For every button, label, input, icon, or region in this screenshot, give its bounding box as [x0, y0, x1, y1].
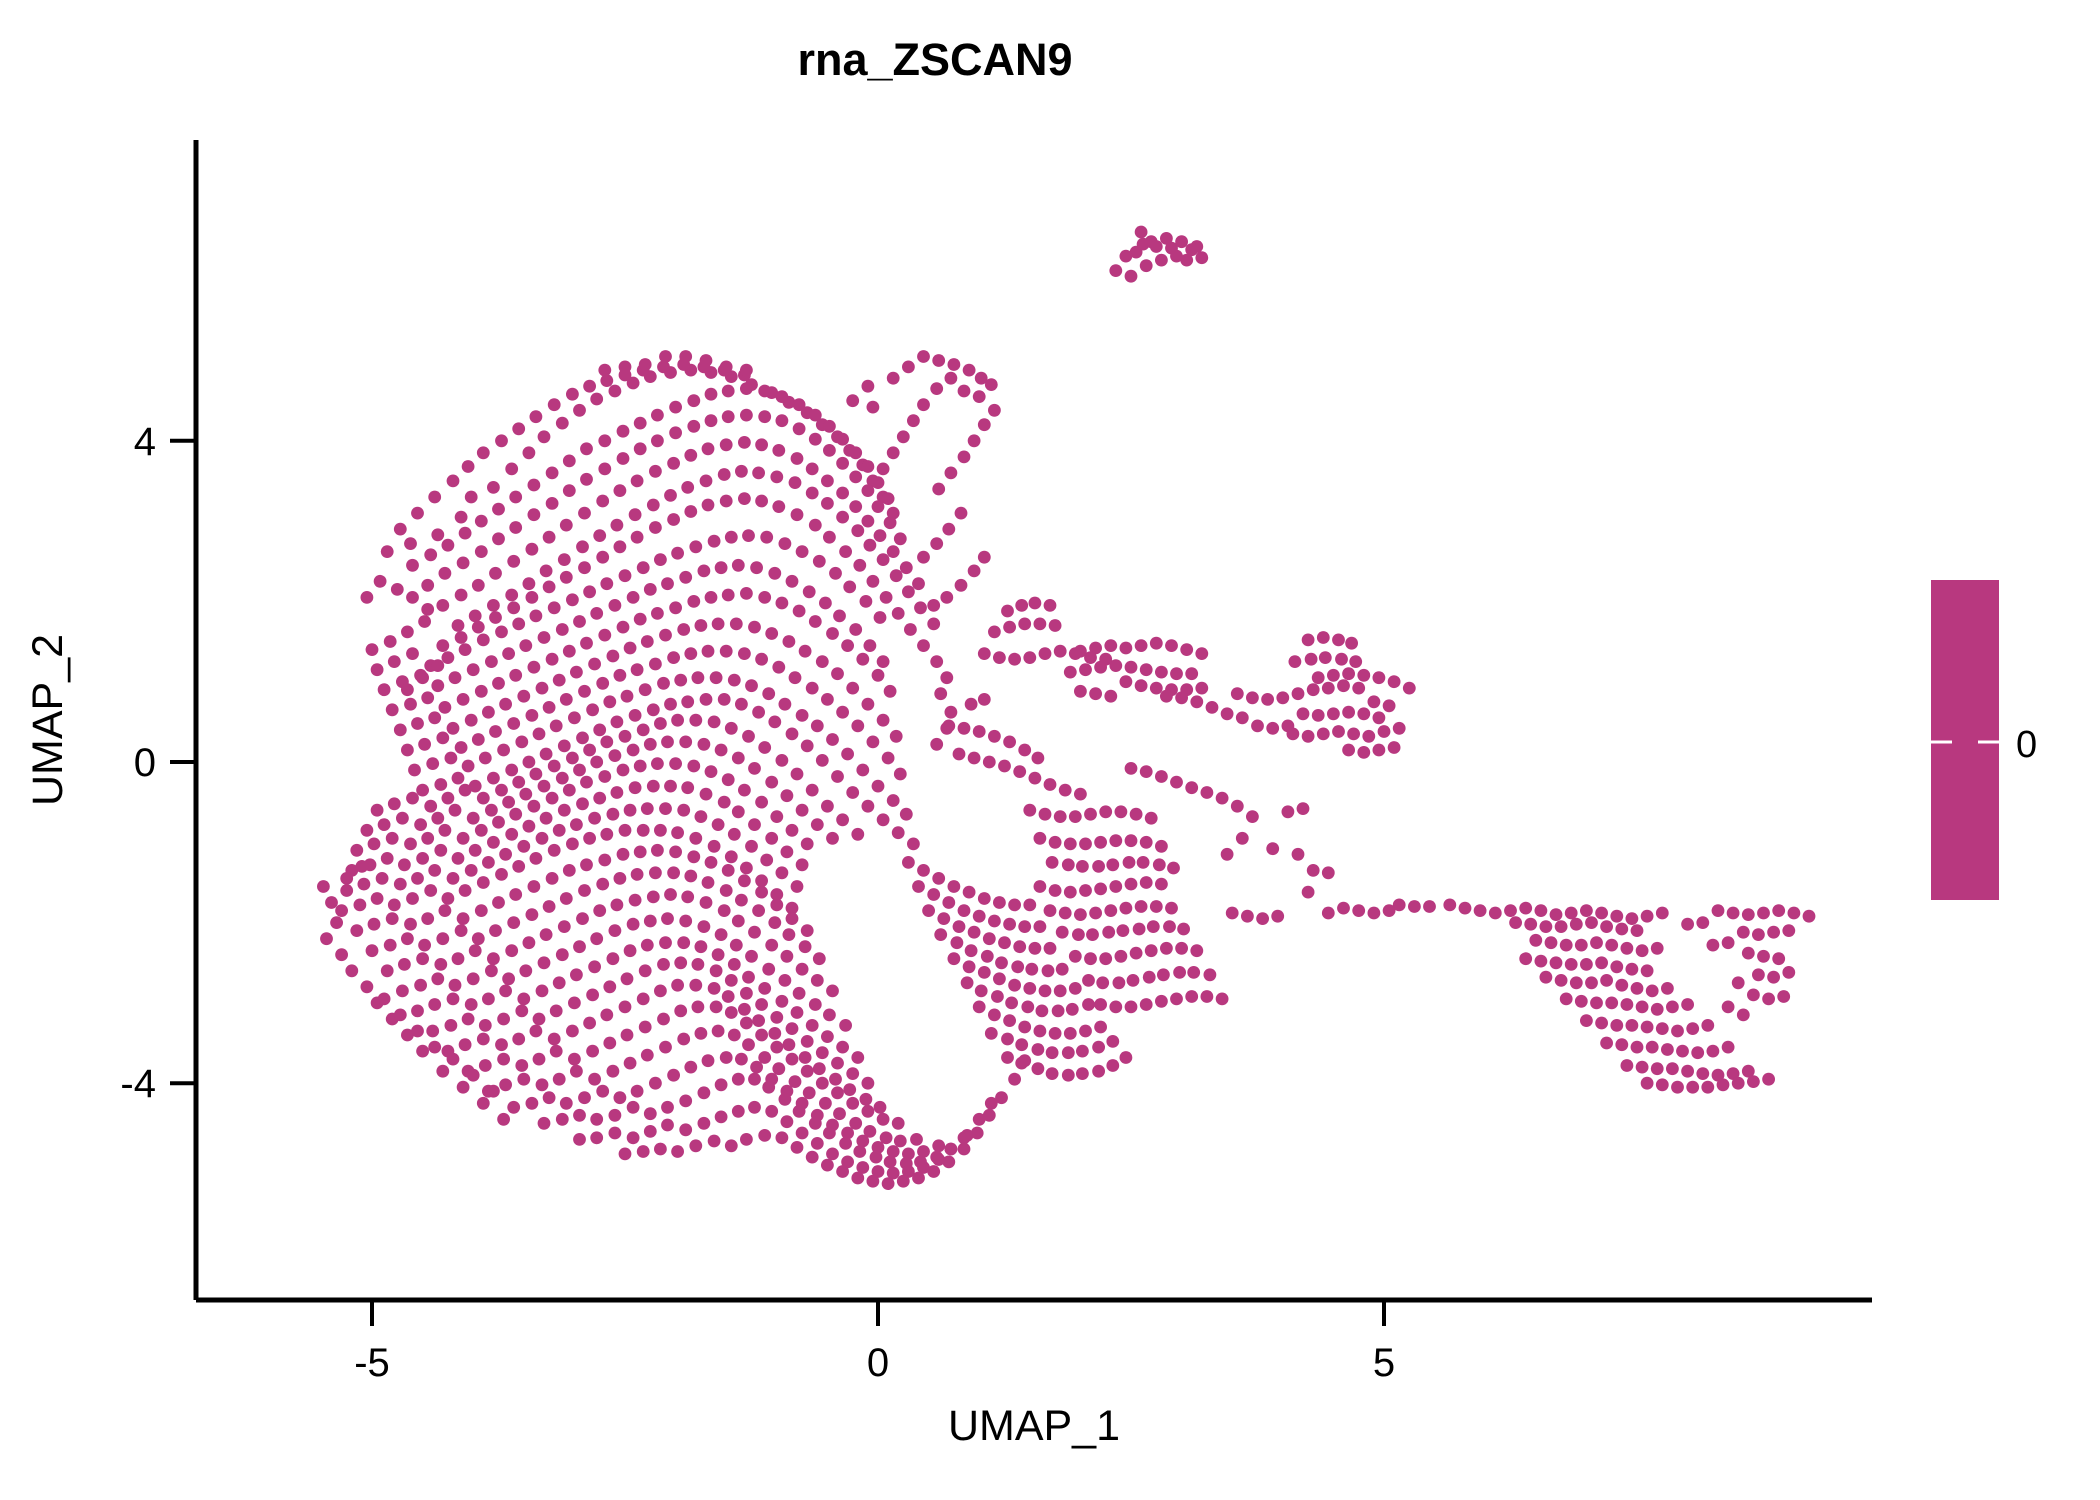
- data-point: [687, 394, 700, 407]
- data-point: [1175, 942, 1188, 955]
- data-point: [1059, 784, 1072, 797]
- legend-colorbar[interactable]: 0: [1931, 580, 2037, 900]
- data-point: [671, 547, 684, 560]
- data-point: [1646, 1041, 1659, 1054]
- data-point: [715, 1078, 728, 1091]
- data-point: [1153, 858, 1166, 871]
- data-point: [631, 475, 644, 488]
- data-point: [1312, 671, 1325, 684]
- data-point: [1621, 1059, 1634, 1072]
- data-point: [821, 497, 834, 510]
- data-point: [1767, 926, 1780, 939]
- data-point: [752, 467, 765, 480]
- data-point: [418, 738, 431, 751]
- data-point: [515, 1005, 528, 1018]
- data-point: [651, 434, 664, 447]
- data-point: [1056, 963, 1069, 976]
- data-point: [1231, 800, 1244, 813]
- data-point: [657, 958, 670, 971]
- data-point: [1732, 976, 1745, 989]
- data-point: [927, 618, 940, 631]
- data-point: [856, 764, 869, 777]
- data-point: [732, 805, 745, 818]
- data-point: [590, 393, 603, 406]
- data-point: [1140, 836, 1153, 849]
- data-point: [1029, 597, 1042, 610]
- data-point: [1165, 902, 1178, 915]
- data-point: [742, 1038, 755, 1051]
- data-point: [469, 844, 482, 857]
- data-point: [1049, 619, 1062, 632]
- data-point: [1044, 778, 1057, 791]
- data-point: [839, 545, 852, 558]
- data-point: [507, 717, 520, 730]
- data-point: [507, 1101, 520, 1114]
- data-point: [965, 698, 978, 711]
- data-point: [1180, 643, 1193, 656]
- data-point: [528, 800, 541, 813]
- data-point: [679, 915, 692, 928]
- data-point: [770, 1011, 783, 1024]
- data-point: [1352, 682, 1365, 695]
- data-point: [543, 900, 556, 913]
- data-point: [667, 457, 680, 470]
- data-point: [738, 784, 751, 797]
- data-point: [455, 741, 468, 754]
- data-point: [779, 537, 792, 550]
- data-point: [849, 471, 862, 484]
- data-point: [1150, 637, 1163, 650]
- data-point: [384, 939, 397, 952]
- data-point: [1140, 876, 1153, 889]
- data-point: [1092, 860, 1105, 873]
- data-point: [517, 690, 530, 703]
- data-point: [457, 557, 470, 570]
- data-point: [320, 932, 333, 945]
- data-point: [1261, 693, 1274, 706]
- data-point: [459, 1038, 472, 1051]
- data-point: [1054, 645, 1067, 658]
- data-point: [1696, 916, 1709, 929]
- data-point: [1540, 920, 1553, 933]
- data-point: [742, 529, 755, 542]
- data-point: [398, 958, 411, 971]
- data-point: [681, 481, 694, 494]
- data-point: [596, 551, 609, 564]
- data-point: [836, 706, 849, 719]
- data-point: [1307, 864, 1320, 877]
- data-point: [705, 765, 718, 778]
- data-point: [526, 1097, 539, 1110]
- data-point: [874, 611, 887, 624]
- data-point: [546, 497, 559, 510]
- data-point: [887, 545, 900, 558]
- data-point: [687, 595, 700, 608]
- data-point: [689, 1139, 702, 1152]
- data-point: [335, 948, 348, 961]
- data-point: [408, 764, 421, 777]
- data-point: [386, 703, 399, 716]
- data-point: [465, 864, 478, 877]
- data-point: [487, 1085, 500, 1098]
- data-point: [1039, 647, 1052, 660]
- data-point: [378, 818, 391, 831]
- data-point: [870, 1151, 883, 1164]
- data-point: [862, 1105, 875, 1118]
- data-point: [368, 838, 381, 851]
- data-point: [1560, 939, 1573, 952]
- data-point: [588, 960, 601, 973]
- data-point: [495, 1038, 508, 1051]
- data-point: [715, 1111, 728, 1124]
- data-point: [416, 952, 429, 965]
- data-point: [772, 661, 785, 674]
- data-point: [801, 838, 814, 851]
- data-point: [902, 856, 915, 869]
- data-point: [1089, 907, 1102, 920]
- data-point: [477, 876, 490, 889]
- data-point: [1378, 725, 1391, 738]
- data-point: [661, 912, 674, 925]
- data-point: [1671, 1025, 1684, 1038]
- data-point: [536, 682, 549, 695]
- data-point: [526, 908, 539, 921]
- data-point: [710, 671, 723, 684]
- data-point: [540, 565, 553, 578]
- data-point: [930, 738, 943, 751]
- data-point: [1282, 720, 1295, 733]
- data-point: [722, 589, 735, 602]
- data-point: [930, 537, 943, 550]
- data-point: [566, 388, 579, 401]
- data-point: [583, 832, 596, 845]
- data-point: [1251, 720, 1264, 733]
- data-point: [1147, 920, 1160, 933]
- data-point: [872, 780, 885, 793]
- data-point: [1342, 706, 1355, 719]
- data-point: [467, 812, 480, 825]
- data-point: [781, 846, 794, 859]
- data-point: [384, 635, 397, 648]
- data-point: [715, 928, 728, 941]
- data-point: [1459, 902, 1472, 915]
- data-point: [1099, 653, 1112, 666]
- data-point: [993, 651, 1006, 664]
- data-point: [740, 587, 753, 600]
- data-point: [1140, 259, 1153, 272]
- data-point: [934, 687, 947, 700]
- data-point: [1175, 691, 1188, 704]
- data-point: [700, 475, 713, 488]
- data-point: [809, 433, 822, 446]
- data-point: [1173, 966, 1186, 979]
- data-point: [851, 1051, 864, 1064]
- data-point: [786, 824, 799, 837]
- data-point: [649, 465, 662, 478]
- data-point: [708, 1135, 721, 1148]
- data-point: [745, 840, 758, 853]
- data-point: [593, 792, 606, 805]
- data-point: [748, 818, 761, 831]
- data-point: [447, 722, 460, 735]
- data-point: [781, 1115, 794, 1128]
- data-point: [462, 1013, 475, 1026]
- data-point: [718, 468, 731, 481]
- data-point: [404, 698, 417, 711]
- data-point: [1018, 1021, 1031, 1034]
- data-point: [1044, 904, 1057, 917]
- data-point: [624, 1057, 637, 1070]
- data-point: [1049, 1027, 1062, 1040]
- data-point: [897, 1175, 910, 1188]
- data-point: [968, 434, 981, 447]
- data-point: [1772, 952, 1785, 965]
- data-point: [634, 417, 647, 430]
- data-point: [978, 551, 991, 564]
- data-point: [406, 647, 419, 660]
- data-point: [502, 647, 515, 660]
- data-point: [1155, 666, 1168, 679]
- data-point: [1029, 942, 1042, 955]
- data-point: [755, 886, 768, 899]
- data-point: [1049, 836, 1062, 849]
- data-point: [394, 878, 407, 891]
- data-point: [603, 980, 616, 993]
- data-point: [371, 663, 384, 676]
- data-point: [421, 603, 434, 616]
- data-point: [442, 539, 455, 552]
- data-point: [1276, 691, 1289, 704]
- data-point: [1086, 928, 1099, 941]
- data-point: [1034, 1025, 1047, 1038]
- data-point: [968, 926, 981, 939]
- data-point: [1691, 1046, 1704, 1059]
- data-point: [411, 1025, 424, 1038]
- data-point: [1079, 884, 1092, 897]
- data-point: [477, 1033, 490, 1046]
- data-point: [1074, 685, 1087, 698]
- data-point: [978, 693, 991, 706]
- data-point: [720, 438, 733, 451]
- data-point: [1788, 907, 1801, 920]
- data-point: [661, 1119, 674, 1132]
- data-point: [932, 354, 945, 367]
- data-point: [546, 653, 559, 666]
- data-point: [958, 722, 971, 735]
- data-point: [1580, 904, 1593, 917]
- data-point: [803, 585, 816, 598]
- data-point: [718, 796, 731, 809]
- data-point: [649, 1077, 662, 1090]
- data-point: [698, 565, 711, 578]
- data-point: [499, 1078, 512, 1091]
- data-point: [452, 852, 465, 865]
- data-point: [617, 848, 630, 861]
- data-point: [431, 659, 444, 672]
- data-point: [772, 1062, 785, 1075]
- data-point: [1135, 679, 1148, 692]
- data-point: [442, 792, 455, 805]
- data-point: [566, 593, 579, 606]
- data-point: [1605, 939, 1618, 952]
- data-point: [799, 645, 812, 658]
- data-point: [705, 388, 718, 401]
- data-point: [538, 430, 551, 443]
- data-point: [770, 471, 783, 484]
- data-point: [358, 878, 371, 891]
- data-point: [523, 756, 536, 769]
- data-point: [492, 532, 505, 545]
- data-point: [556, 1113, 569, 1126]
- data-point: [1140, 765, 1153, 778]
- data-point: [1282, 805, 1295, 818]
- data-point: [489, 611, 502, 624]
- data-point: [530, 410, 543, 423]
- data-point: [755, 438, 768, 451]
- data-point: [1349, 655, 1362, 668]
- data-point: [611, 519, 624, 532]
- data-point: [1079, 1025, 1092, 1038]
- data-point: [973, 390, 986, 403]
- data-point: [502, 972, 515, 985]
- data-point: [651, 607, 664, 620]
- data-point: [1636, 1001, 1649, 1014]
- data-point: [755, 998, 768, 1011]
- data-point: [809, 409, 822, 422]
- data-point: [973, 910, 986, 923]
- data-point: [631, 663, 644, 676]
- data-point: [669, 601, 682, 614]
- data-point: [609, 599, 622, 612]
- data-point: [1032, 1043, 1045, 1056]
- data-point: [853, 1145, 866, 1158]
- data-point: [455, 924, 468, 937]
- data-point: [1610, 960, 1623, 973]
- data-point: [674, 1005, 687, 1018]
- data-point: [467, 1069, 480, 1082]
- data-point: [1082, 974, 1095, 987]
- data-point: [1120, 902, 1133, 915]
- data-point: [350, 924, 363, 937]
- data-point: [884, 685, 897, 698]
- data-point: [819, 597, 832, 610]
- data-point: [1666, 1062, 1679, 1075]
- data-point: [1742, 947, 1755, 960]
- data-point: [1231, 687, 1244, 700]
- data-point: [1023, 804, 1036, 817]
- data-point: [826, 733, 839, 746]
- data-point: [1109, 834, 1122, 847]
- data-point: [449, 671, 462, 684]
- data-point: [983, 932, 996, 945]
- data-point: [411, 1005, 424, 1018]
- data-point: [821, 800, 834, 813]
- data-point: [768, 567, 781, 580]
- data-point: [609, 749, 622, 762]
- data-point: [760, 531, 773, 544]
- data-point: [533, 1013, 546, 1026]
- data-point: [836, 1041, 849, 1054]
- data-point: [401, 683, 414, 696]
- data-point: [499, 848, 512, 861]
- data-point: [394, 724, 407, 737]
- data-point: [558, 553, 571, 566]
- data-point: [1155, 878, 1168, 891]
- data-point: [786, 728, 799, 741]
- data-point: [368, 918, 381, 931]
- data-point: [1005, 997, 1018, 1010]
- data-point: [755, 495, 768, 508]
- data-point: [475, 824, 488, 837]
- data-point: [598, 463, 611, 476]
- data-point: [644, 738, 657, 751]
- data-point: [1443, 899, 1456, 912]
- data-point: [1109, 1001, 1122, 1014]
- data-point: [791, 1141, 804, 1154]
- data-point: [1106, 858, 1119, 871]
- data-point: [1595, 956, 1608, 969]
- data-point: [892, 1117, 905, 1130]
- data-point: [1565, 907, 1578, 920]
- data-point: [649, 658, 662, 671]
- data-point: [528, 661, 541, 674]
- data-point: [725, 531, 738, 544]
- data-point: [853, 559, 866, 572]
- data-point: [1342, 744, 1355, 757]
- data-point: [489, 725, 502, 738]
- data-point: [821, 693, 834, 706]
- data-point: [851, 720, 864, 733]
- data-point: [449, 804, 462, 817]
- data-point: [1062, 1069, 1075, 1082]
- data-point: [877, 553, 890, 566]
- data-point: [1519, 952, 1532, 965]
- data-point: [813, 1062, 826, 1075]
- data-point: [1271, 910, 1284, 923]
- data-point: [472, 579, 485, 592]
- data-point: [1661, 982, 1674, 995]
- data-point: [570, 666, 583, 679]
- data-point: [793, 422, 806, 435]
- data-point: [1332, 634, 1345, 647]
- data-point: [1094, 836, 1107, 849]
- data-point: [550, 1005, 563, 1018]
- data-point: [477, 792, 490, 805]
- data-point: [1722, 936, 1735, 949]
- data-point: [487, 599, 500, 612]
- data-point: [862, 1077, 875, 1090]
- data-point: [509, 888, 522, 901]
- data-point: [799, 1051, 812, 1064]
- data-point: [576, 732, 589, 745]
- data-point: [948, 358, 961, 371]
- data-point: [436, 639, 449, 652]
- data-point: [816, 1046, 829, 1059]
- data-point: [590, 756, 603, 769]
- data-point: [560, 892, 573, 905]
- data-point: [624, 944, 637, 957]
- data-point: [1388, 741, 1401, 754]
- data-point: [499, 985, 512, 998]
- data-point: [553, 674, 566, 687]
- data-point: [512, 1033, 525, 1046]
- data-point: [1292, 848, 1305, 861]
- data-point: [465, 714, 478, 727]
- data-point: [1155, 840, 1168, 853]
- data-point: [1565, 958, 1578, 971]
- data-point: [1106, 1059, 1119, 1072]
- data-point: [940, 591, 953, 604]
